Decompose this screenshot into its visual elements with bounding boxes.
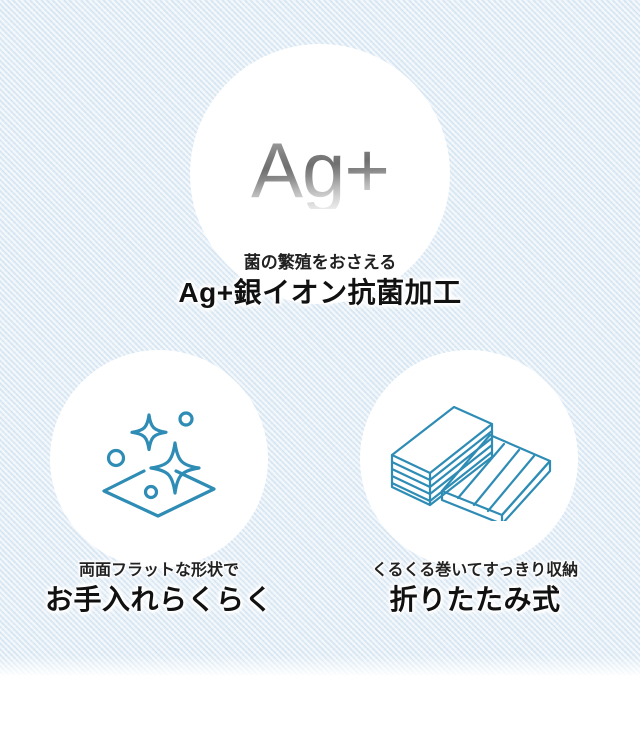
feature-caption-flat-surface: 両面フラットな形状で お手入れらくらく (19, 560, 299, 617)
feature-subtitle: くるくる巻いてすっきり収納 (330, 560, 620, 581)
feature-title: 折りたたみ式 (330, 582, 620, 617)
ag-plus-label: Ag+ (251, 131, 389, 209)
feature-title: Ag+銀イオン抗菌加工 (120, 275, 520, 311)
feature-subtitle: 両面フラットな形状で (19, 560, 299, 581)
feature-caption-antibacterial: 菌の繁殖をおさえる Ag+銀イオン抗菌加工 (120, 252, 520, 311)
sparkle-flat-surface-icon (50, 350, 268, 568)
feature-subtitle: 菌の繁殖をおさえる (120, 252, 520, 274)
folded-mat-glyph (380, 397, 558, 521)
feature-highlights-panel: Ag+ 菌の繁殖をおさえる Ag+銀イオン抗菌加工 両面フラットな形状で お手入… (0, 0, 640, 731)
feature-title: お手入れらくらく (19, 582, 299, 617)
folded-mat-icon (360, 350, 578, 568)
feature-caption-foldable: くるくる巻いてすっきり収納 折りたたみ式 (330, 560, 620, 617)
sparkle-flat-surface-glyph (94, 399, 224, 519)
